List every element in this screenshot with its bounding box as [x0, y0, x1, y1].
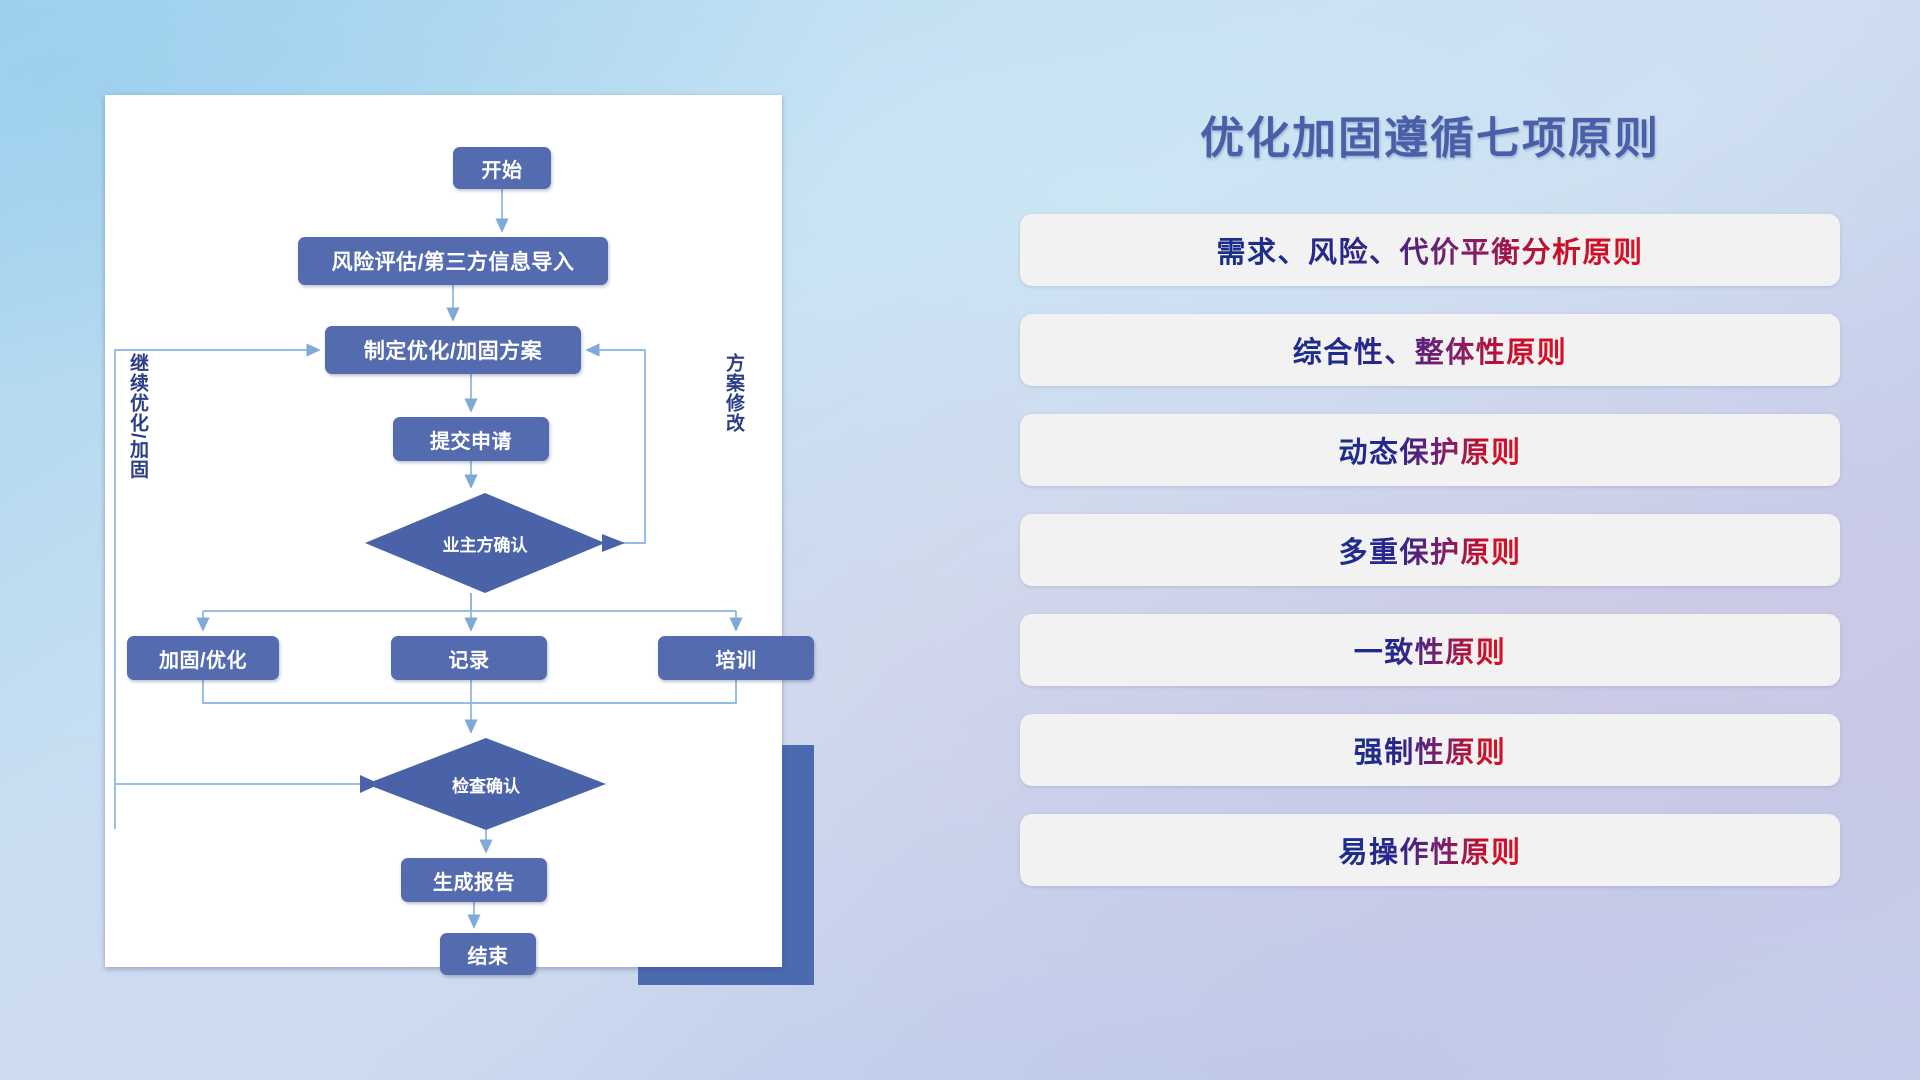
flow-node-start[interactable]: 开始	[453, 147, 551, 189]
principle-label: 一致性原则	[1354, 629, 1507, 671]
principle-item[interactable]: 综合性、整体性原则	[1020, 314, 1840, 386]
principle-item[interactable]: 强制性原则	[1020, 714, 1840, 786]
flow-node-label: 提交申请	[430, 425, 512, 454]
principle-label: 综合性、整体性原则	[1293, 329, 1568, 371]
edge-label-plan-revision: 方案修改	[723, 353, 743, 433]
flow-node-label: 记录	[449, 644, 490, 673]
principle-label: 多重保护原则	[1338, 529, 1521, 571]
flow-node-reinforce-optimize[interactable]: 加固/优化	[127, 636, 279, 680]
principle-item[interactable]: 易操作性原则	[1020, 814, 1840, 886]
principle-label: 易操作性原则	[1338, 829, 1521, 871]
principle-item[interactable]: 一致性原则	[1020, 614, 1840, 686]
flow-node-submit-application[interactable]: 提交申请	[393, 417, 549, 461]
flow-node-label: 结束	[468, 940, 509, 969]
flow-node-label: 制定优化/加固方案	[364, 335, 542, 365]
flow-node-label: 业主方确认	[443, 531, 528, 556]
flow-node-label: 加固/优化	[159, 644, 247, 673]
principle-item[interactable]: 动态保护原则	[1020, 414, 1840, 486]
flow-node-record[interactable]: 记录	[391, 636, 547, 680]
flow-node-training[interactable]: 培训	[658, 636, 814, 680]
flow-node-label: 开始	[482, 154, 523, 183]
edge-label-continue-optimize: 继续优化/加固	[127, 353, 147, 479]
flow-node-label: 风险评估/第三方信息导入	[332, 246, 575, 276]
flow-node-label: 培训	[716, 644, 757, 673]
flow-node-label: 生成报告	[433, 866, 515, 895]
panel-title: 优化加固遵循七项原则	[1020, 102, 1840, 166]
principle-label: 需求、风险、代价平衡分析原则	[1216, 229, 1643, 271]
flow-node-generate-report[interactable]: 生成报告	[401, 858, 547, 902]
flow-node-label: 检查确认	[452, 772, 520, 797]
principle-label: 强制性原则	[1354, 729, 1507, 771]
flow-decision-inspection-confirm[interactable]: 检查确认	[366, 738, 606, 830]
flow-decision-owner-confirm[interactable]: 业主方确认	[365, 493, 605, 593]
flowchart-card: 开始 风险评估/第三方信息导入 制定优化/加固方案 提交申请 业主方确认 加固/…	[105, 95, 782, 967]
flow-node-plan[interactable]: 制定优化/加固方案	[325, 326, 581, 374]
principle-label: 动态保护原则	[1338, 429, 1521, 471]
flow-node-end[interactable]: 结束	[440, 933, 536, 975]
principle-list: 需求、风险、代价平衡分析原则 综合性、整体性原则 动态保护原则 多重保护原则 一…	[1020, 214, 1840, 886]
principle-item[interactable]: 多重保护原则	[1020, 514, 1840, 586]
principles-panel: 优化加固遵循七项原则 需求、风险、代价平衡分析原则 综合性、整体性原则 动态保护…	[1020, 80, 1840, 1020]
flow-node-risk-assessment[interactable]: 风险评估/第三方信息导入	[298, 237, 608, 285]
principle-item[interactable]: 需求、风险、代价平衡分析原则	[1020, 214, 1840, 286]
